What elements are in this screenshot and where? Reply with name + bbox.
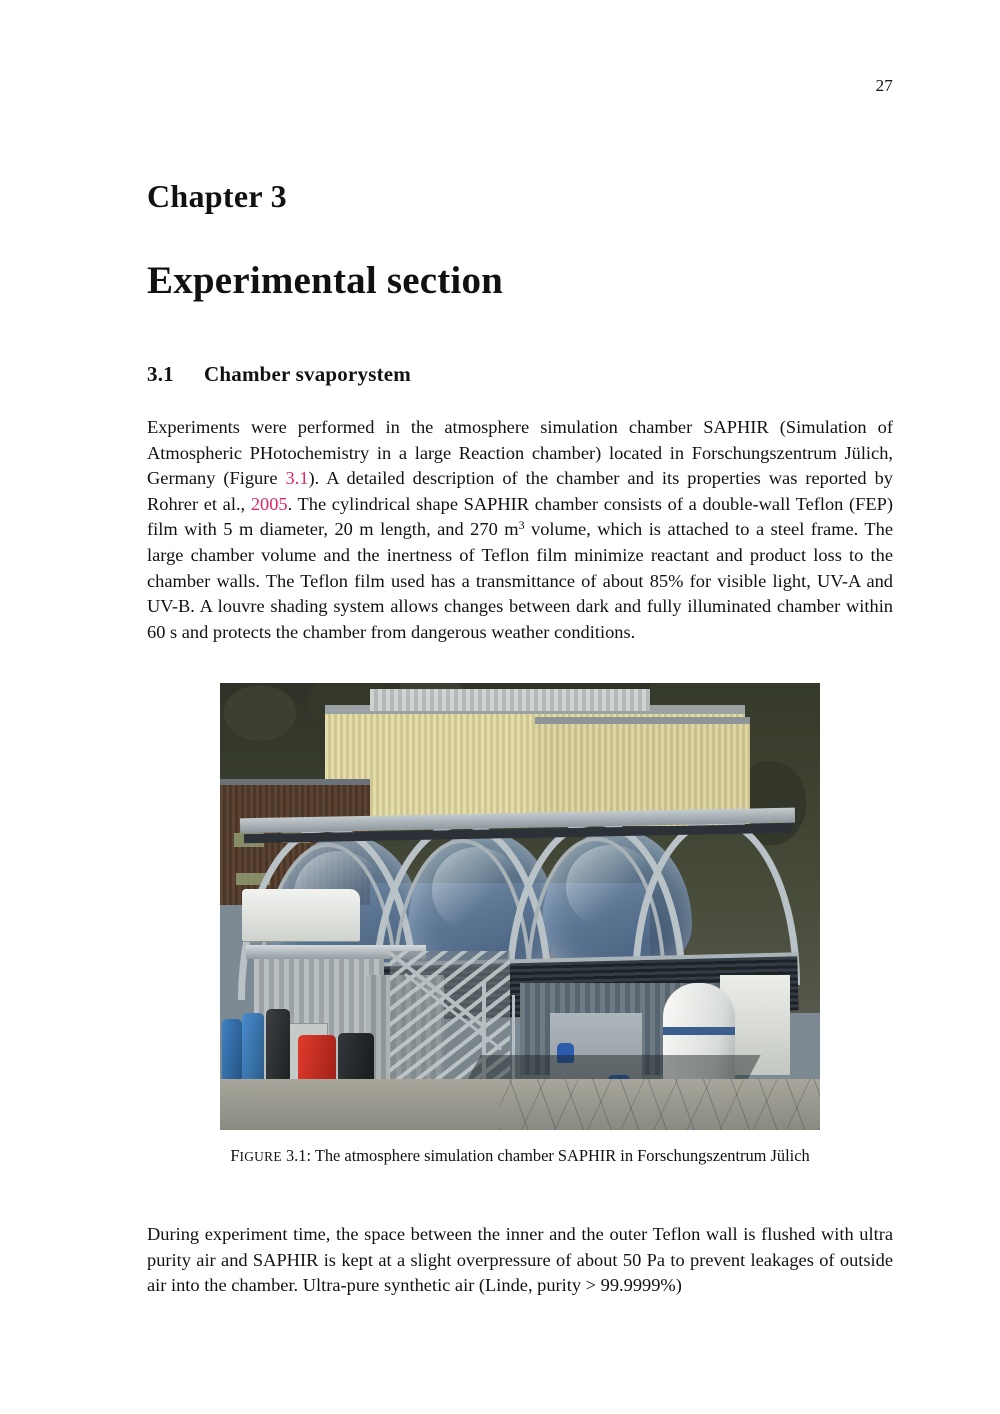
figure-3-1: FIGURE 3.1: The atmosphere simulation ch… — [220, 683, 820, 1168]
chapter-label: Chapter 3 — [147, 178, 287, 215]
ground-crack-lines — [500, 1079, 820, 1130]
document-page: 27 Chapter 3 Experimental section 3.1Cha… — [0, 0, 1000, 1414]
tank-blue-band — [663, 1027, 735, 1035]
figure-caption-text: The atmosphere simulation chamber SAPHIR… — [315, 1146, 810, 1165]
section-number: 3.1 — [147, 362, 204, 387]
industrial-hall-second-block — [535, 717, 750, 824]
hall-roof-vents — [370, 689, 650, 711]
after-figure-paragraph: During experiment time, the space betwee… — [147, 1222, 893, 1299]
gas-cylinder-blue-2 — [242, 1013, 264, 1089]
white-tent-cover — [242, 889, 360, 941]
section-title: Chamber svaporystem — [204, 362, 411, 386]
figure-label-smallcaps: IGURE — [239, 1149, 281, 1164]
gas-cylinder-black-1 — [266, 1009, 290, 1089]
after-figure-paragraph-block: During experiment time, the space betwee… — [147, 1222, 893, 1299]
section-heading: 3.1Chamber svaporystem — [147, 362, 411, 387]
figure-caption: FIGURE 3.1: The atmosphere simulation ch… — [220, 1144, 820, 1168]
figure-caption-label: FIGURE — [230, 1146, 282, 1165]
figure-caption-number: 3.1: — [286, 1146, 311, 1165]
chapter-title: Experimental section — [147, 258, 503, 303]
page-number: 27 — [876, 76, 893, 96]
figure-crossref-link[interactable]: 3.1 — [286, 468, 309, 488]
intro-paragraph: Experiments were performed in the atmosp… — [147, 415, 893, 645]
saphir-chamber-photo — [220, 683, 820, 1130]
intro-paragraph-block: Experiments were performed in the atmosp… — [147, 415, 893, 645]
citation-link-rohrer-2005[interactable]: 2005 — [251, 494, 288, 514]
